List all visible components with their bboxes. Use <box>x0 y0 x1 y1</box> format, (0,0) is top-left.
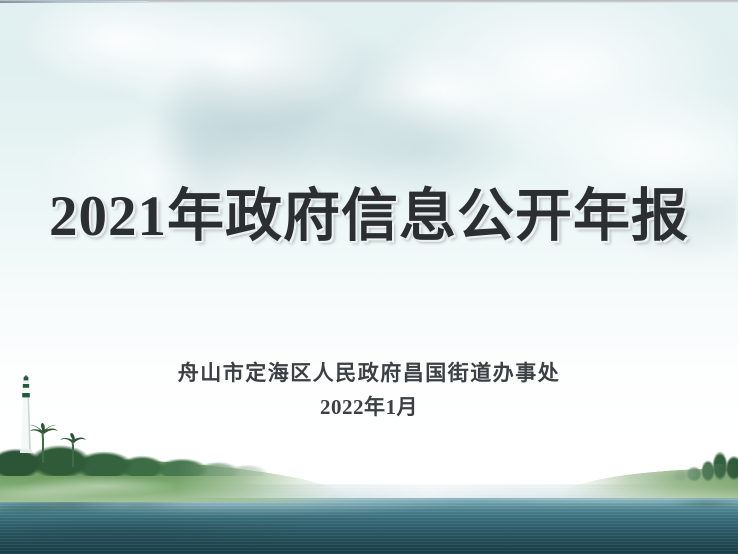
subtitle-block: 舟山市定海区人民政府昌国街道办事处 2022年1月 <box>0 358 738 423</box>
organization-name: 舟山市定海区人民政府昌国街道办事处 <box>0 358 738 388</box>
presentation-slide: 2021年政府信息公开年报 舟山市定海区人民政府昌国街道办事处 2022年1月 <box>0 0 738 554</box>
top-border-accent <box>0 1 148 3</box>
page-title: 2021年政府信息公开年报 <box>0 186 738 248</box>
palm-tree-icon <box>58 433 88 472</box>
right-foliage-icon <box>660 448 738 482</box>
publication-date: 2022年1月 <box>0 392 738 422</box>
title-block: 2021年政府信息公开年报 <box>0 186 738 248</box>
